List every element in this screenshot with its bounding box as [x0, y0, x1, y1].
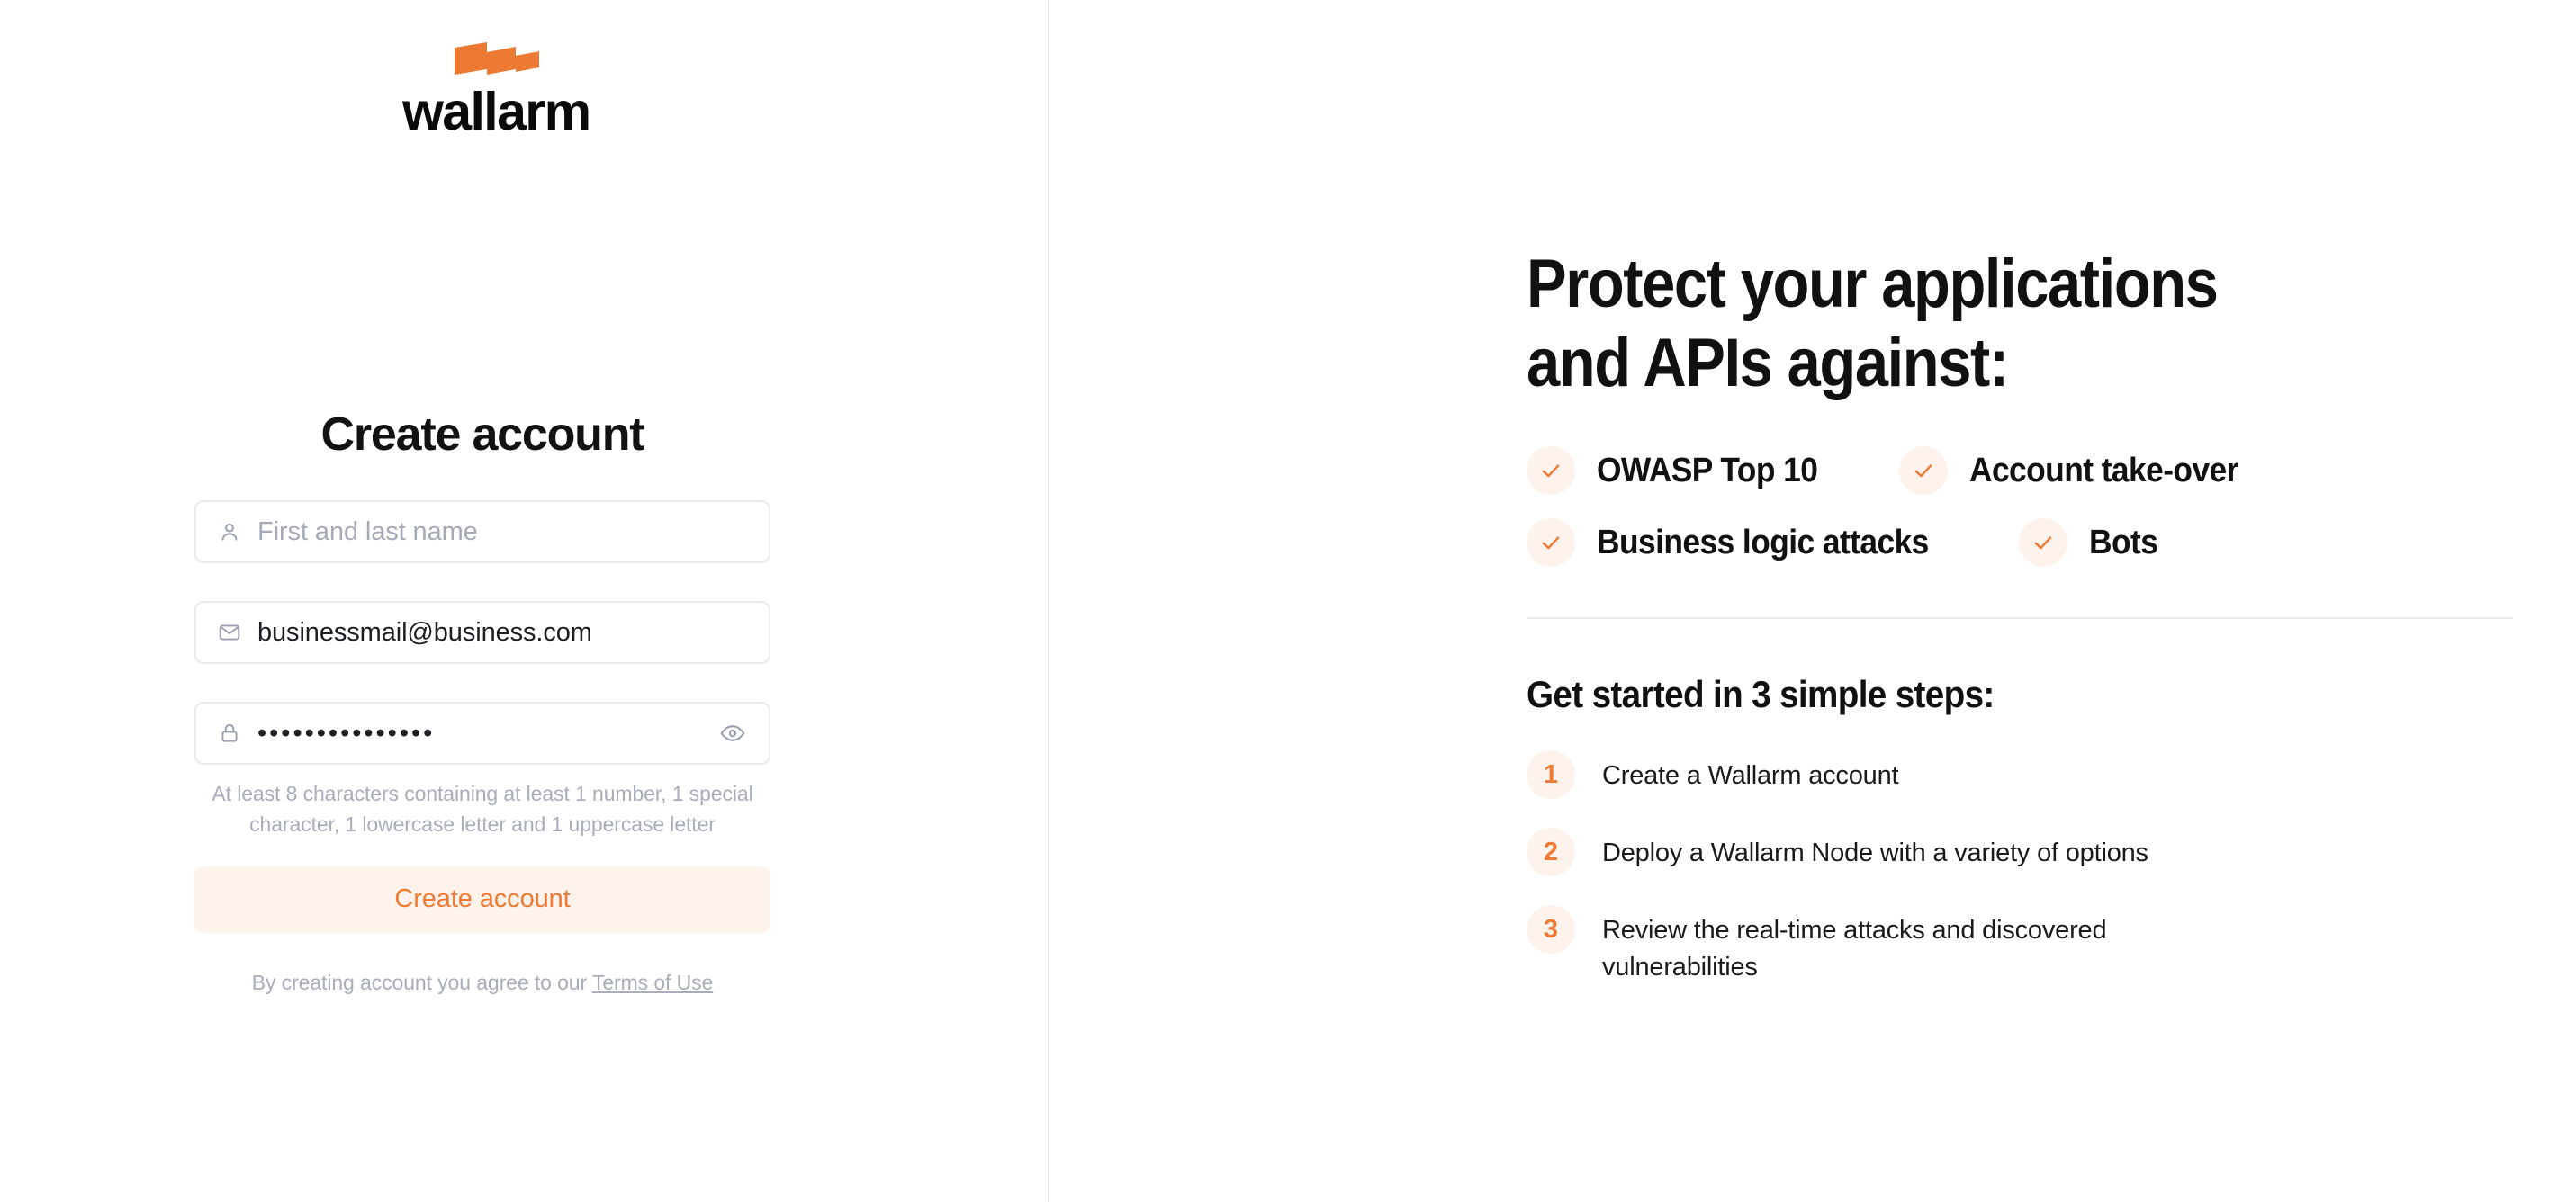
page-title: Create account [194, 409, 770, 461]
terms-of-use-link[interactable]: Terms of Use [592, 971, 713, 994]
check-icon [2019, 518, 2067, 567]
signup-form: Create account [194, 409, 770, 995]
step-number-badge: 3 [1527, 905, 1575, 954]
check-icon [1527, 446, 1575, 495]
wallarm-bolt-logo-icon [402, 40, 573, 87]
wallarm-wordmark: wallarm [402, 85, 573, 139]
feature-item: Business logic attacks [1527, 518, 2019, 567]
feature-label: Bots [2089, 524, 2157, 562]
lock-icon [216, 720, 243, 747]
step-item: 2 Deploy a Wallarm Node with a variety o… [1527, 828, 2513, 876]
promo-title: Protect your applications and APIs again… [1527, 245, 2394, 403]
section-divider [1527, 617, 2513, 619]
step-text: Deploy a Wallarm Node with a variety of … [1602, 828, 2148, 872]
password-input[interactable] [196, 719, 769, 749]
step-text: Review the real-time attacks and discove… [1602, 905, 2214, 986]
step-text: Create a Wallarm account [1602, 750, 1898, 794]
terms-prefix: By creating account you agree to our [252, 971, 592, 994]
feature-list: OWASP Top 10 Account take-over Business … [1527, 446, 2513, 567]
name-input[interactable] [196, 517, 769, 547]
steps-list: 1 Create a Wallarm account 2 Deploy a Wa… [1527, 750, 2513, 986]
steps-title: Get started in 3 simple steps: [1527, 673, 2434, 716]
feature-label: Business logic attacks [1597, 524, 1929, 562]
feature-label: Account take-over [1969, 452, 2238, 490]
feature-label: OWASP Top 10 [1597, 452, 1817, 490]
signup-page: wallarm Create account [0, 0, 2576, 1202]
step-number-badge: 1 [1527, 750, 1575, 799]
promo-panel: Protect your applications and APIs again… [1049, 0, 2576, 1202]
step-item: 1 Create a Wallarm account [1527, 750, 2513, 799]
step-item: 3 Review the real-time attacks and disco… [1527, 905, 2513, 986]
mail-icon [216, 619, 243, 646]
check-icon [1899, 446, 1948, 495]
terms-notice: By creating account you agree to our Ter… [194, 971, 770, 995]
step-number-badge: 2 [1527, 828, 1575, 876]
email-input[interactable] [196, 618, 769, 648]
feature-item: Account take-over [1899, 446, 2323, 495]
feature-item: OWASP Top 10 [1527, 446, 1899, 495]
signup-form-panel: wallarm Create account [0, 0, 1049, 1202]
promo-content: Protect your applications and APIs again… [1527, 245, 2513, 987]
password-field-wrapper[interactable] [194, 702, 770, 765]
wallarm-logo: wallarm [402, 40, 573, 130]
eye-icon[interactable] [715, 715, 751, 751]
check-icon [1527, 518, 1575, 567]
feature-item: Bots [2019, 518, 2228, 567]
person-icon [216, 518, 243, 545]
create-account-button[interactable]: Create account [194, 866, 770, 933]
password-hint: At least 8 characters containing at leas… [194, 779, 770, 839]
name-field-wrapper[interactable] [194, 500, 770, 563]
email-field-wrapper[interactable] [194, 601, 770, 664]
